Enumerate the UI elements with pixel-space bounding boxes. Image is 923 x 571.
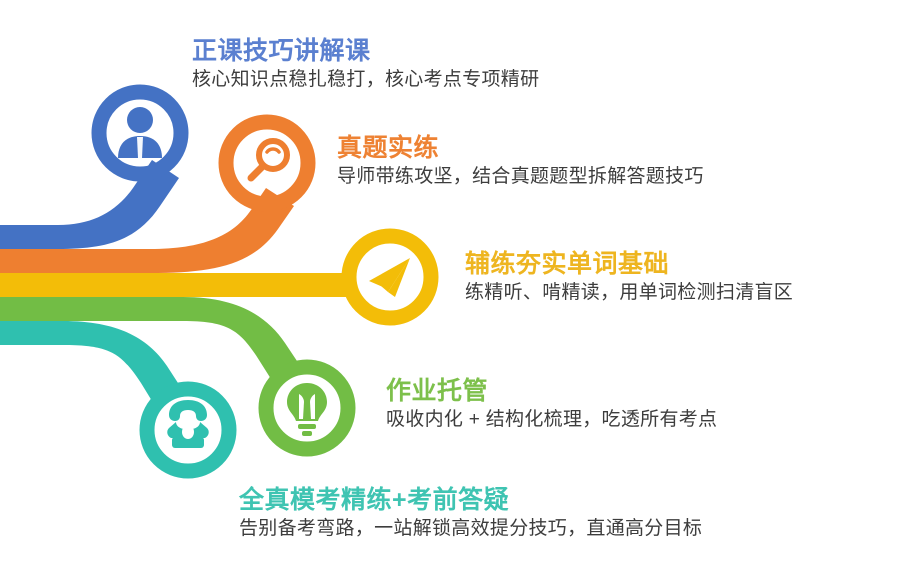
step-3-text-block: 辅练夯实单词基础 练精听、啃精读，用单词检测扫清盲区 [465, 249, 793, 306]
step-1-title: 正课技巧讲解课 [192, 36, 539, 66]
step-5-title: 全真模考精练+考前答疑 [239, 485, 702, 515]
step-1-description: 核心知识点稳扎稳打，核心考点专项精研 [192, 66, 539, 93]
step-5-ring [147, 389, 229, 471]
step-5-description: 告别备考弯路，一站解锁高效提分技巧，直通高分目标 [239, 515, 702, 542]
step-2-title: 真题实练 [337, 133, 704, 163]
step-2-ribbon [0, 122, 308, 273]
step-4-ring [266, 367, 348, 449]
step-1-text-block: 正课技巧讲解课 核心知识点稳扎稳打，核心考点专项精研 [192, 36, 539, 93]
step-5-text-block: 全真模考精练+考前答疑 告别备考弯路，一站解锁高效提分技巧，直通高分目标 [239, 485, 702, 542]
step-2-ring [226, 122, 308, 204]
step-5-ribbon [0, 321, 229, 471]
step-1-ribbon [0, 92, 181, 249]
step-2-text-block: 真题实练 导师带练攻坚，结合真题题型拆解答题技巧 [337, 133, 704, 190]
step-3-title: 辅练夯实单词基础 [465, 249, 793, 279]
step-1-ring [99, 92, 181, 174]
paper-plane-icon [369, 258, 410, 297]
step-4-ribbon [0, 297, 348, 449]
step-5-pipe [0, 321, 178, 401]
step-2-description: 导师带练攻坚，结合真题题型拆解答题技巧 [337, 163, 704, 190]
step-4-text-block: 作业托管 吸收内化 + 结构化梳理，吃透所有考点 [386, 376, 717, 433]
step-1-pipe [0, 160, 179, 249]
person-icon [118, 107, 162, 158]
lightbulb-icon [287, 383, 327, 436]
infographic-canvas: 正课技巧讲解课 核心知识点稳扎稳打，核心考点专项精研 真题实练 导师带练攻坚，结… [0, 0, 923, 571]
step-3-ring [349, 236, 431, 318]
magnifier-icon [251, 141, 287, 178]
step-3-pipe [0, 273, 356, 297]
step-3-ribbon [0, 236, 431, 318]
step-2-pipe [0, 188, 294, 273]
telephone-icon [167, 400, 208, 448]
step-3-description: 练精听、啃精读，用单词检测扫清盲区 [465, 279, 793, 306]
step-4-title: 作业托管 [386, 376, 717, 406]
step-4-pipe [0, 297, 297, 379]
step-4-description: 吸收内化 + 结构化梳理，吃透所有考点 [386, 406, 717, 433]
